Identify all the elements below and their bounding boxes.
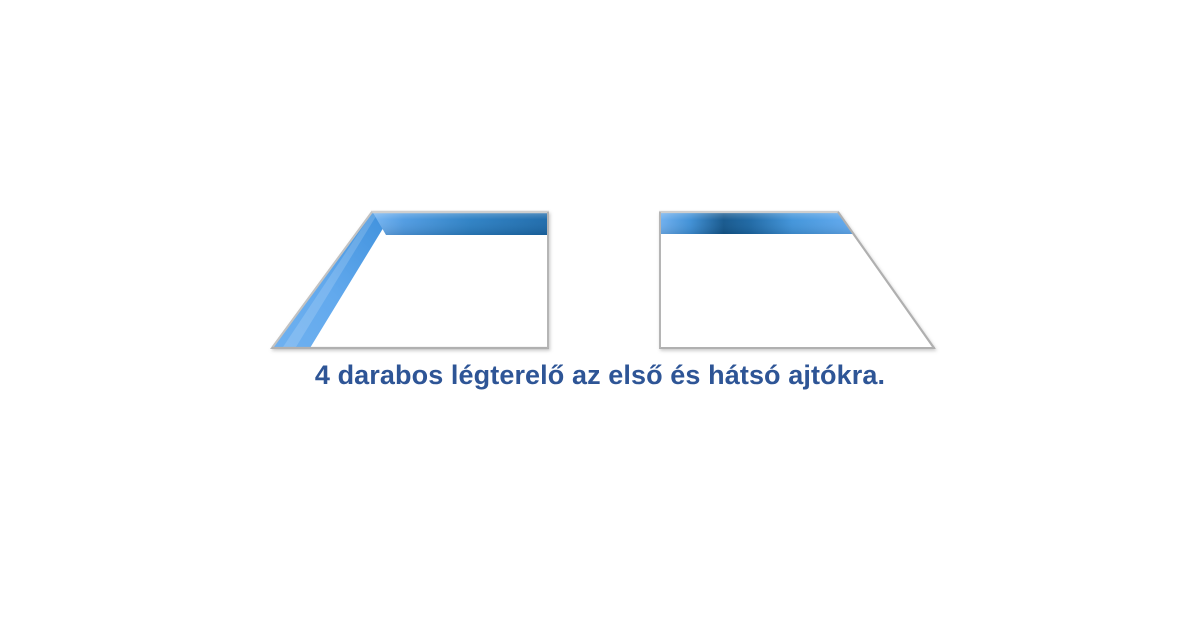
front-door-wind-deflector — [272, 211, 549, 348]
product-caption: 4 darabos légterelő az első és hátsó ajt… — [0, 358, 1200, 392]
rear-band-shading — [659, 211, 855, 234]
rear-door-wind-deflector — [659, 211, 935, 348]
front-band-shading — [372, 211, 549, 235]
page-canvas: Légterelő szett — első és hátsó ajtó — [0, 0, 1200, 630]
illustration-svg: Légterelő szett — első és hátsó ajtó — [0, 0, 1200, 630]
product-illustration: Légterelő szett — első és hátsó ajtó — [0, 0, 1200, 630]
